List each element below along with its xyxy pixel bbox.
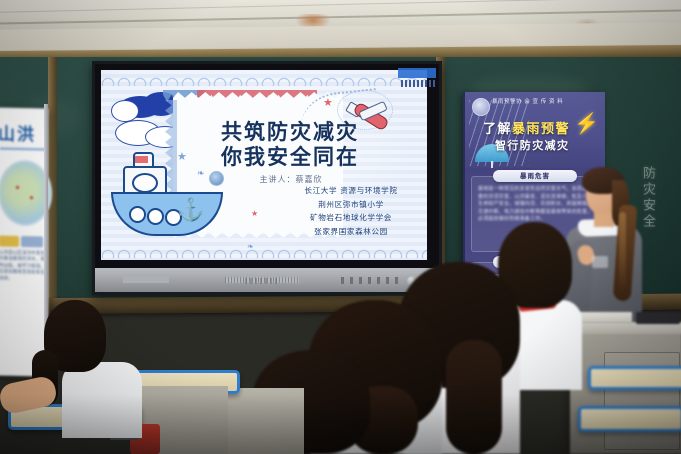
slide-title-line2: 你我安全同在 <box>195 145 385 170</box>
smartboard-button-row[interactable] <box>341 277 403 284</box>
umbrella-handle-icon <box>491 161 493 168</box>
badge-left <box>0 236 19 247</box>
student-desk <box>588 366 681 390</box>
star-icon: ★ <box>251 208 258 219</box>
smartboard-status-light <box>398 68 436 78</box>
smartboard-indicator-strip <box>401 80 435 87</box>
cloud-icon <box>111 100 139 122</box>
hazard-panel-heading: 暴雨危害 <box>493 170 577 182</box>
star-icon: ★ <box>323 98 333 109</box>
mountain-flood-banner: 山洪 山洪是山区溪沟中发生的暴涨暴落的洪水，来势凶猛，破坏力极强，应提前撤离至高… <box>0 107 48 376</box>
banner-headline-highlight: 暴雨预警 <box>512 122 570 137</box>
smartboard-screen[interactable]: ★ ★ ★ ❧ ❧ ❧ ⚓ 共筑防灾减灾 你我安全同在 <box>101 70 427 260</box>
chalk-writing: 防灾安全 <box>640 166 657 286</box>
smartboard-bezel <box>95 268 439 292</box>
classroom-photo: 防灾安全 <box>0 0 681 454</box>
wave-border-bottom <box>101 244 427 258</box>
banner-header: 暴雨预警协 会 宣 传 资 料 ⚡ 了解暴雨预警 智行防灾减灾 <box>465 92 605 168</box>
organization-item: 张家界国家森林公园 <box>281 225 421 239</box>
organization-emblem-icon <box>472 98 490 116</box>
podium-paper-stack <box>574 312 632 323</box>
smartboard-logo-icon <box>245 278 279 284</box>
organization-item: 长江大学 资源与环境学院 <box>281 184 421 198</box>
student-desk <box>578 406 681 432</box>
slide-organization-list: 长江大学 资源与环境学院 荆州区弥市镇小学 矿物岩石地球化学学会 张家界国家森林… <box>281 184 421 238</box>
boat-porthole-icon <box>147 208 164 225</box>
badge-right <box>21 236 43 247</box>
organization-item: 矿物岩石地球化学学会 <box>281 211 421 225</box>
boat-funnel-band-icon <box>135 156 148 163</box>
presentation-slide: ★ ★ ★ ❧ ❧ ❧ ⚓ 共筑防灾减灾 你我安全同在 <box>101 70 427 260</box>
anchor-icon: ⚓ <box>177 198 199 222</box>
banner-divider <box>0 148 46 151</box>
star-icon: ★ <box>177 152 187 163</box>
boat-porthole-large-icon <box>132 173 158 193</box>
banner-headline: 了解暴雨预警 <box>483 118 570 137</box>
boat-porthole-icon <box>129 206 146 223</box>
slide-title: 共筑防灾减灾 你我安全同在 <box>195 120 385 170</box>
organization-item: 荆州区弥市镇小学 <box>281 198 421 212</box>
smartboard-pen-tray[interactable] <box>123 276 169 283</box>
podium-device <box>636 312 680 324</box>
teacher-ponytail-highlight <box>619 212 626 292</box>
mountain-flood-title: 山洪 <box>0 119 36 145</box>
lightning-bolt-icon: ⚡ <box>574 114 599 134</box>
mountain-flood-caption: 山洪是山区溪沟中发生的暴涨暴落的洪水，来势凶猛，破坏力极强，应提前撤离至高处安全… <box>0 251 45 284</box>
slide-title-line1: 共筑防灾减灾 <box>195 120 385 145</box>
banner-subheadline: 智行防灾减灾 <box>495 137 569 153</box>
smartboard[interactable]: ★ ★ ★ ❧ ❧ ❧ ⚓ 共筑防灾减灾 你我安全同在 <box>92 61 442 295</box>
banner-organization-name: 暴雨预警协 会 宣 传 资 料 <box>492 98 563 106</box>
wave-border-top <box>101 72 427 86</box>
banner-headline-prefix: 了解 <box>483 122 512 137</box>
desk-body <box>228 388 304 454</box>
teacher-badge <box>592 256 608 268</box>
fish-icon: ❧ <box>247 242 254 251</box>
